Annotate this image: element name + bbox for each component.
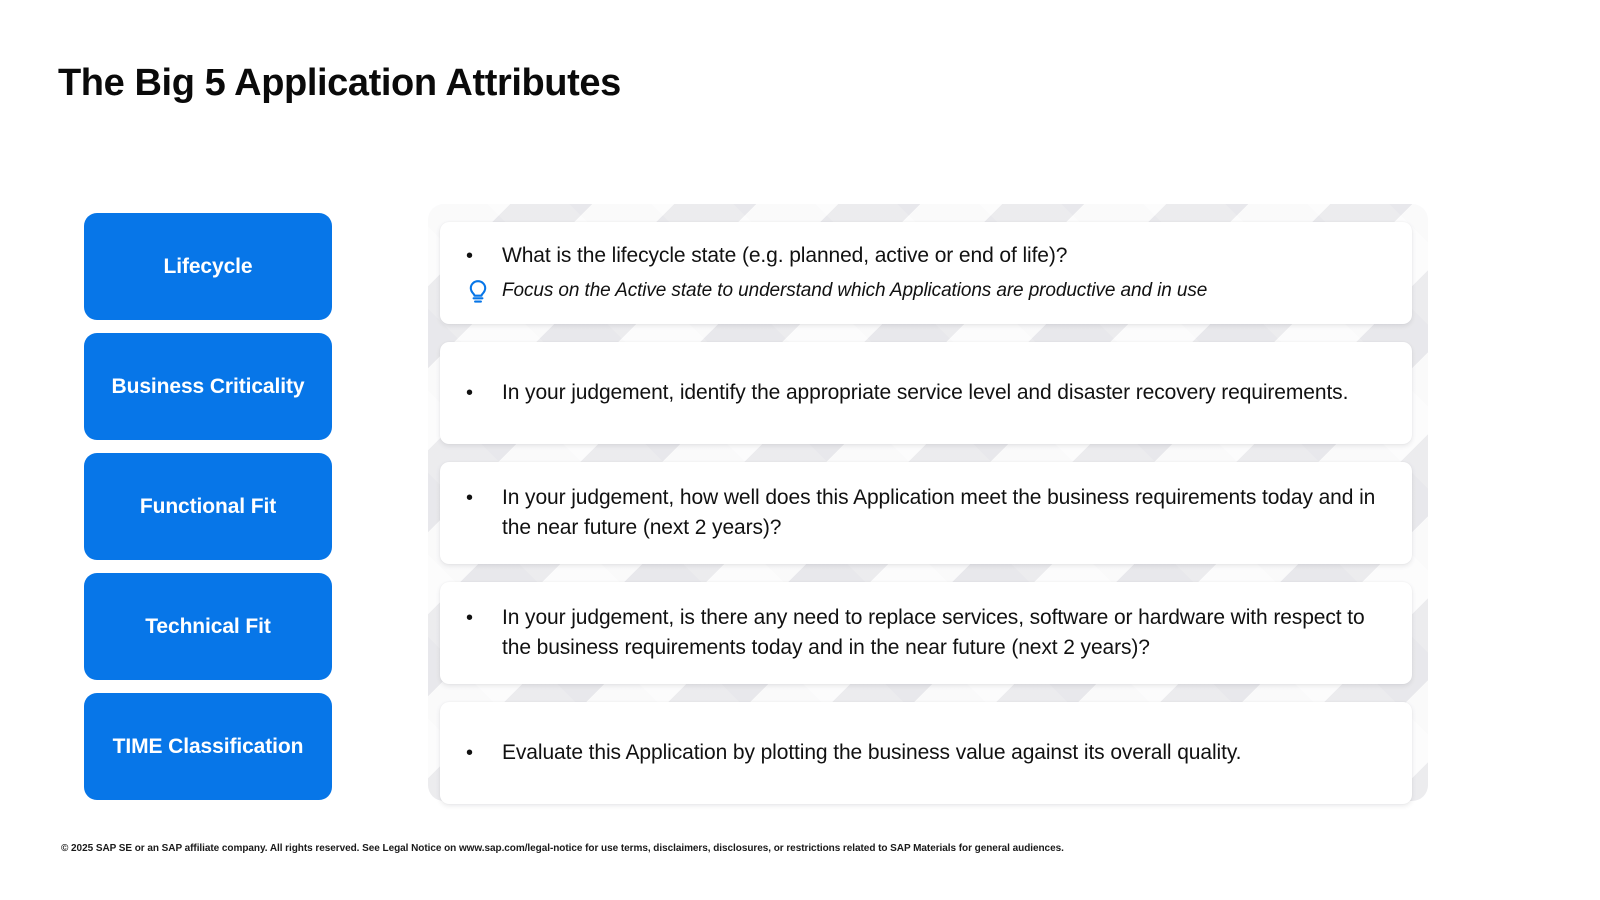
- slide-canvas: The Big 5 Application Attributes Lifecyc…: [0, 0, 1600, 900]
- question-card-functional-fit[interactable]: • In your judgement, how well does this …: [440, 462, 1412, 564]
- question-card-body: • In your judgement, how well does this …: [454, 483, 1386, 543]
- question-text: Evaluate this Application by plotting th…: [502, 738, 1386, 768]
- legal-footer: © 2025 SAP SE or an SAP affiliate compan…: [61, 843, 1064, 854]
- question-row: • Evaluate this Application by plotting …: [454, 738, 1386, 768]
- attribute-chip-label: Technical Fit: [145, 615, 271, 639]
- question-text: What is the lifecycle state (e.g. planne…: [502, 241, 1386, 271]
- attribute-chip-business-criticality[interactable]: Business Criticality: [84, 333, 332, 440]
- question-card-business-criticality[interactable]: • In your judgement, identify the approp…: [440, 342, 1412, 444]
- attribute-chip-label: Business Criticality: [112, 375, 305, 399]
- bullet-marker: •: [454, 241, 502, 271]
- question-card-technical-fit[interactable]: • In your judgement, is there any need t…: [440, 582, 1412, 684]
- attribute-chip-lifecycle[interactable]: Lifecycle: [84, 213, 332, 320]
- question-row: • In your judgement, is there any need t…: [454, 603, 1386, 663]
- attribute-chip-functional-fit[interactable]: Functional Fit: [84, 453, 332, 560]
- attribute-chip-time-classification[interactable]: TIME Classification: [84, 693, 332, 800]
- attribute-chip-label: Lifecycle: [164, 255, 253, 279]
- hint-text: Focus on the Active state to understand …: [502, 277, 1386, 305]
- question-card-body: • What is the lifecycle state (e.g. plan…: [454, 241, 1386, 305]
- attribute-chip-technical-fit[interactable]: Technical Fit: [84, 573, 332, 680]
- question-text: In your judgement, how well does this Ap…: [502, 483, 1386, 543]
- question-card-list: • What is the lifecycle state (e.g. plan…: [440, 222, 1412, 804]
- bullet-marker: •: [454, 738, 502, 768]
- lightbulb-icon: [454, 277, 502, 305]
- bullet-marker: •: [454, 603, 502, 633]
- attribute-chip-label: TIME Classification: [113, 735, 304, 759]
- question-card-time-classification[interactable]: • Evaluate this Application by plotting …: [440, 702, 1412, 804]
- question-card-body: • Evaluate this Application by plotting …: [454, 738, 1386, 768]
- question-text: In your judgement, identify the appropri…: [502, 378, 1386, 408]
- question-row: • In your judgement, how well does this …: [454, 483, 1386, 543]
- question-card-body: • In your judgement, identify the approp…: [454, 378, 1386, 408]
- question-text: In your judgement, is there any need to …: [502, 603, 1386, 663]
- question-row: • What is the lifecycle state (e.g. plan…: [454, 241, 1386, 271]
- page-title: The Big 5 Application Attributes: [58, 62, 621, 105]
- attribute-chip-label: Functional Fit: [140, 495, 276, 519]
- question-card-body: • In your judgement, is there any need t…: [454, 603, 1386, 663]
- question-card-lifecycle[interactable]: • What is the lifecycle state (e.g. plan…: [440, 222, 1412, 324]
- question-row: • In your judgement, identify the approp…: [454, 378, 1386, 408]
- bullet-marker: •: [454, 483, 502, 513]
- bullet-marker: •: [454, 378, 502, 408]
- attribute-list: Lifecycle Business Criticality Functiona…: [84, 213, 332, 800]
- hint-row: Focus on the Active state to understand …: [454, 277, 1386, 305]
